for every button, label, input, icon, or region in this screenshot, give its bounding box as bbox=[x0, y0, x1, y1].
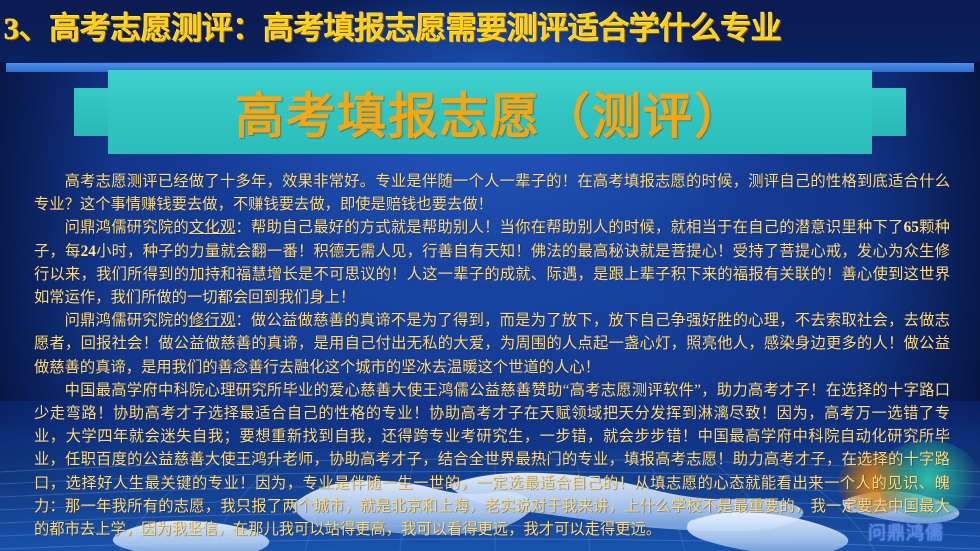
body-text-run: 问鼎鸿儒研究院的 bbox=[65, 219, 189, 236]
highlighted-number: 65 bbox=[904, 219, 919, 236]
emphasised-term: 修行观 bbox=[189, 312, 236, 329]
body-text-run: 中国最高学府中科院心理研究所毕业的爱心慈善大使王鸿儒公益慈善赞助“高考志愿测评软… bbox=[34, 382, 950, 538]
watermark-logo: 问鼎鸿儒 bbox=[868, 519, 944, 545]
body-paragraph: 问鼎鸿儒研究院的文化观：帮助自己最好的方式就是帮助别人！当你在帮助别人的时候，就… bbox=[34, 216, 950, 309]
presentation-slide: 3、高考志愿测评：高考填报志愿需要测评适合学什么专业 高考填报志愿（测评） 高考… bbox=[0, 0, 980, 551]
body-paragraph: 中国最高学府中科院心理研究所毕业的爱心慈善大使王鸿儒公益慈善赞助“高考志愿测评软… bbox=[34, 379, 950, 541]
ribbon-banner: 高考填报志愿（测评） bbox=[0, 70, 980, 154]
body-text-run: 问鼎鸿儒研究院的 bbox=[65, 312, 189, 329]
ribbon-tail-right bbox=[872, 88, 906, 136]
emphasised-term: 文化观 bbox=[189, 219, 236, 236]
body-text-run: 小时，种子的力量就会翻一番！积德无需人见，行善自有天知！佛法的最高秘诀就是菩提心… bbox=[34, 243, 950, 306]
body-text-run: 高考志愿测评已经做了十多年，效果非常好。专业是伴随一个人一辈子的！在高考填报志愿… bbox=[34, 173, 950, 213]
page-title: 3、高考志愿测评：高考填报志愿需要测评适合学什么专业 bbox=[4, 6, 976, 52]
body-text-run: ：帮助自己最好的方式就是帮助别人！当你在帮助别人的时候，就相当于在自己的潜意识里… bbox=[236, 219, 904, 236]
ribbon-tail-left bbox=[74, 88, 108, 136]
body-paragraph: 高考志愿测评已经做了十多年，效果非常好。专业是伴随一个人一辈子的！在高考填报志愿… bbox=[34, 170, 950, 216]
body-paragraph: 问鼎鸿儒研究院的修行观：做公益做慈善的真谛不是为了得到，而是为了放下，放下自己争… bbox=[34, 309, 950, 379]
slide-body-text: 高考志愿测评已经做了十多年，效果非常好。专业是伴随一个人一辈子的！在高考填报志愿… bbox=[34, 170, 950, 541]
slide-header-band: 3、高考志愿测评：高考填报志愿需要测评适合学什么专业 bbox=[0, 0, 980, 62]
banner-title: 高考填报志愿（测评） bbox=[108, 70, 872, 154]
highlighted-number: 24 bbox=[81, 243, 96, 260]
